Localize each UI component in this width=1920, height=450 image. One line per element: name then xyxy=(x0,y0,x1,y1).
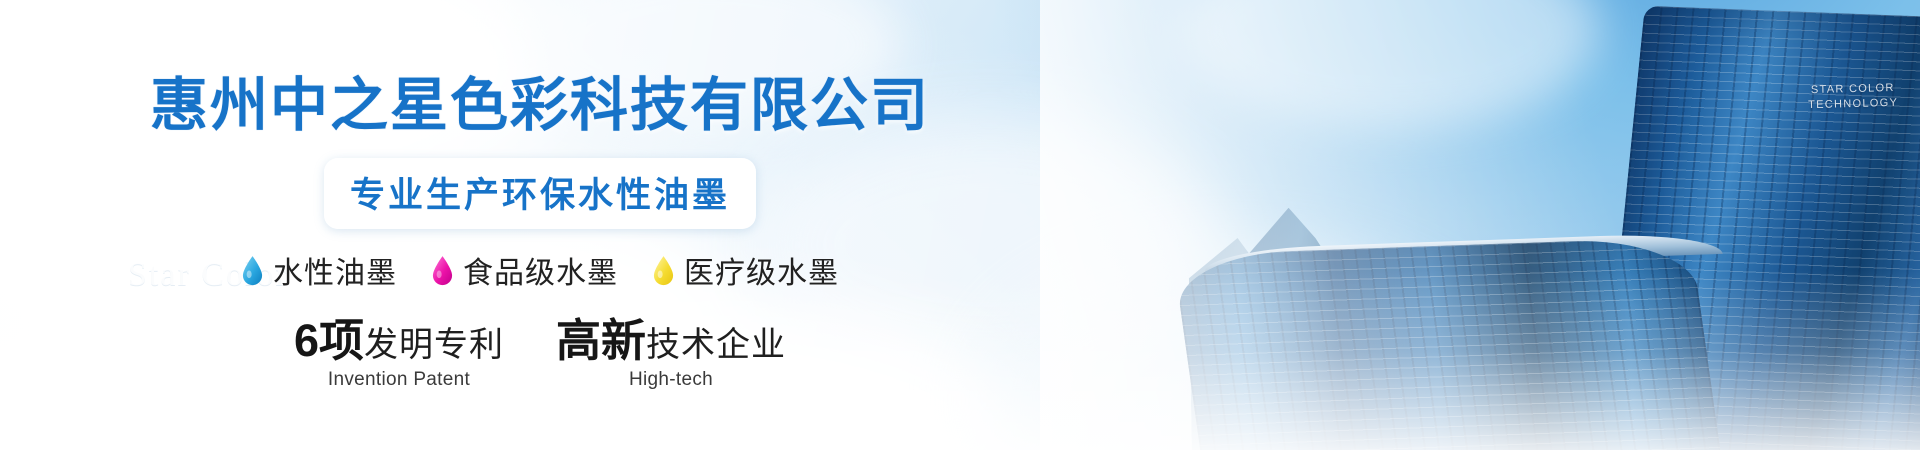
product-item-food-grade-ink: 食品级水墨 xyxy=(431,248,618,292)
product-item-medical-grade-ink: 医疗级水墨 xyxy=(652,248,839,292)
credential-main: 高新技术企业 xyxy=(556,318,786,363)
credential-strong: 高新 xyxy=(556,315,646,366)
building-watermark-line2: TECHNOLOGY xyxy=(1793,95,1913,113)
credential-item-hightech: 高新技术企业 High-tech xyxy=(556,318,786,391)
product-label: 医疗级水墨 xyxy=(684,248,839,292)
credential-main: 6项发明专利 xyxy=(294,318,504,363)
tagline-pill: 专业生产环保水性油墨 xyxy=(324,158,756,229)
skyscraper-illustration xyxy=(1040,0,1920,450)
credential-list: 6项发明专利 Invention Patent 高新技术企业 High-tech xyxy=(0,318,1080,391)
product-item-water-ink: 水性油墨 xyxy=(241,248,397,292)
product-label: 食品级水墨 xyxy=(463,248,618,292)
credential-rest: 发明专利 xyxy=(364,326,504,364)
promo-banner: STAR COLOR TECHNOLOGY Star Color 惠州中之星色彩… xyxy=(0,0,1920,450)
product-label: 水性油墨 xyxy=(273,248,397,292)
water-drop-icon xyxy=(431,255,454,286)
water-drop-icon xyxy=(241,255,264,286)
curved-glass-tower xyxy=(1173,237,1723,450)
credential-item-patent: 6项发明专利 Invention Patent xyxy=(294,318,504,391)
product-list: 水性油墨 食品级水墨 xyxy=(0,248,1080,292)
credential-subtitle: Invention Patent xyxy=(294,369,504,391)
tagline-row: 专业生产环保水性油墨 xyxy=(0,158,1080,229)
banner-content: 惠州中之星色彩科技有限公司 专业生产环保水性油墨 水性油墨 xyxy=(0,0,1080,450)
credential-subtitle: High-tech xyxy=(556,369,786,391)
building-watermark: STAR COLOR TECHNOLOGY xyxy=(1793,80,1914,113)
credential-strong: 6项 xyxy=(294,315,364,366)
company-title: 惠州中之星色彩科技有限公司 xyxy=(0,58,1080,142)
water-drop-icon xyxy=(652,255,675,286)
credential-rest: 技术企业 xyxy=(646,326,786,364)
